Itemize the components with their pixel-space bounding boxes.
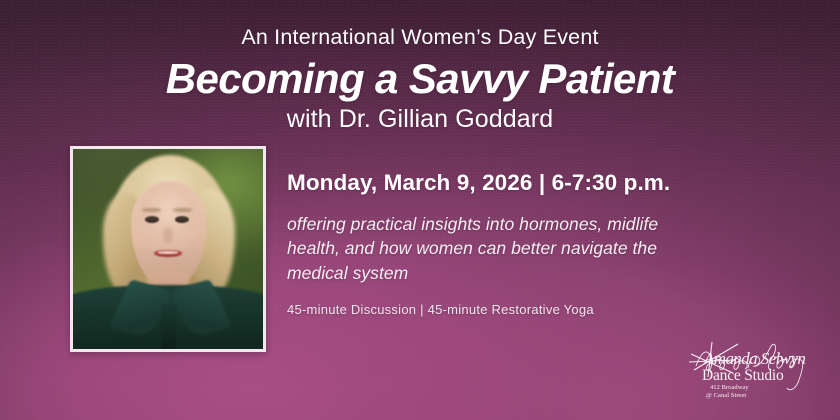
event-format: 45-minute Discussion | 45-minute Restora…	[287, 302, 717, 319]
speaker-portrait-photo	[73, 149, 263, 349]
event-details: Monday, March 9, 2026 | 6-7:30 p.m. offe…	[287, 170, 717, 319]
event-date-time: Monday, March 9, 2026 | 6-7:30 p.m.	[287, 170, 717, 196]
portrait-soft-overlay	[73, 149, 263, 349]
logo-address-line-1: 412 Broadway	[710, 384, 749, 391]
logo-studio-name: Dance Studio	[702, 367, 784, 384]
event-flyer: An International Women’s Day Event Becom…	[0, 0, 840, 420]
event-title: Becoming a Savvy Patient	[0, 56, 840, 101]
event-eyebrow: An International Women’s Day Event	[0, 26, 840, 50]
event-subtitle: with Dr. Gillian Goddard	[0, 106, 840, 134]
flyer-header: An International Women’s Day Event Becom…	[0, 26, 840, 134]
event-description: offering practical insights into hormone…	[287, 212, 715, 286]
studio-logo: Amanda Selwyn Dance Studio 412 Broadway …	[686, 340, 824, 412]
speaker-portrait-frame	[70, 146, 266, 352]
logo-script-name: Amanda Selwyn	[703, 349, 805, 368]
logo-address-line-2: @ Canal Street	[706, 392, 746, 399]
